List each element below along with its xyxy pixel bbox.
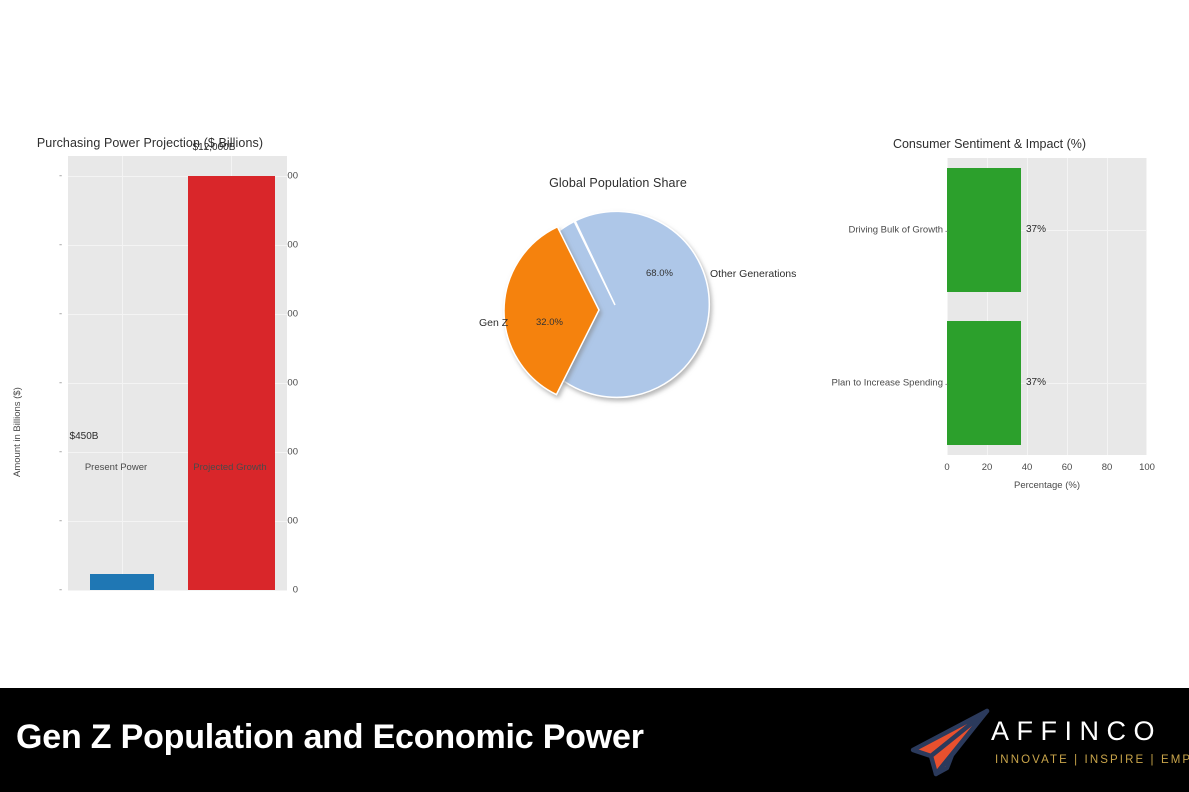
slide-canvas: Purchasing Power Projection ($ Billions)… xyxy=(0,0,1189,792)
y-category-plan-to-increase-spending: Plan to Increase Spending xyxy=(790,378,943,389)
y-axis-label-purchasing-power: Amount in Billions ($) xyxy=(12,387,23,477)
pie-label-gen-z: Gen Z xyxy=(479,317,508,329)
plot-area-purchasing-power xyxy=(68,156,287,590)
x-tick-80: 80 xyxy=(1102,462,1113,473)
bar-label-projected-growth: $12,000B xyxy=(143,142,285,153)
x-axis-label-consumer-sentiment: Percentage (%) xyxy=(997,480,1097,491)
slide-title: Gen Z Population and Economic Power xyxy=(16,718,644,757)
gridline-v-60 xyxy=(1067,158,1068,455)
y-tick-mark-4000: - xyxy=(59,447,62,458)
bar-label-plan-to-increase-spending: 37% xyxy=(1026,377,1046,388)
gridline-v-40 xyxy=(1027,158,1028,455)
y-tick-mark-plan-spending: - xyxy=(945,379,948,390)
gridline-v-present xyxy=(122,156,123,590)
chart-consumer-sentiment: Consumer Sentiment & Impact (%) Driving … xyxy=(790,132,1189,502)
footer-banner: Gen Z Population and Economic Power AFFI… xyxy=(0,688,1189,792)
x-category-projected-growth: Projected Growth xyxy=(176,462,284,473)
y-tick-mark-12000: - xyxy=(59,171,62,182)
chart-global-population-share: Global Population Share 68.0% 3 xyxy=(440,165,840,435)
pie-label-other-generations: Other Generations xyxy=(710,268,796,280)
bar-plan-to-increase-spending xyxy=(947,321,1021,445)
bar-label-present-power: $450B xyxy=(24,431,144,442)
y-tick-mark-6000: - xyxy=(59,378,62,389)
x-tick-40: 40 xyxy=(1022,462,1033,473)
x-tick-100: 100 xyxy=(1139,462,1155,473)
y-tick-mark-2000: - xyxy=(59,516,62,527)
plot-area-consumer-sentiment xyxy=(947,158,1147,455)
logo-wordmark: AFFINCO xyxy=(991,716,1162,747)
chart-title-consumer-sentiment: Consumer Sentiment & Impact (%) xyxy=(790,137,1189,151)
y-tick-mark-0: - xyxy=(59,585,62,596)
y-tick-mark-10000: - xyxy=(59,240,62,251)
gridline-v-80 xyxy=(1107,158,1108,455)
x-tick-60: 60 xyxy=(1062,462,1073,473)
bar-present-power xyxy=(90,574,154,590)
gridline-h-0 xyxy=(68,590,287,591)
y-tick-mark-driving-growth: - xyxy=(945,226,948,237)
bar-label-driving-bulk-of-growth: 37% xyxy=(1026,224,1046,235)
chart-purchasing-power: Purchasing Power Projection ($ Billions)… xyxy=(0,132,300,492)
y-category-driving-bulk-of-growth: Driving Bulk of Growth xyxy=(790,225,943,236)
bar-projected-growth xyxy=(188,176,275,590)
pie-graphic: 68.0% 32.0% Other Generations Gen Z xyxy=(440,165,840,435)
gridline-v-100 xyxy=(1146,158,1147,455)
x-category-present-power: Present Power xyxy=(62,462,170,473)
bar-driving-bulk-of-growth xyxy=(947,168,1021,292)
x-tick-0: 0 xyxy=(944,462,949,473)
logo-block: AFFINCO INNOVATE | INSPIRE | EMPOWER xyxy=(903,702,1181,780)
x-tick-20: 20 xyxy=(982,462,993,473)
pie-value-gen-z: 32.0% xyxy=(536,317,563,328)
pie-value-other-generations: 68.0% xyxy=(646,268,673,279)
logo-tagline: INNOVATE | INSPIRE | EMPOWER xyxy=(995,754,1189,766)
paper-plane-icon xyxy=(903,706,993,778)
y-tick-mark-8000: - xyxy=(59,309,62,320)
y-tick-0: 0 xyxy=(293,585,298,596)
pie-svg xyxy=(440,165,840,435)
